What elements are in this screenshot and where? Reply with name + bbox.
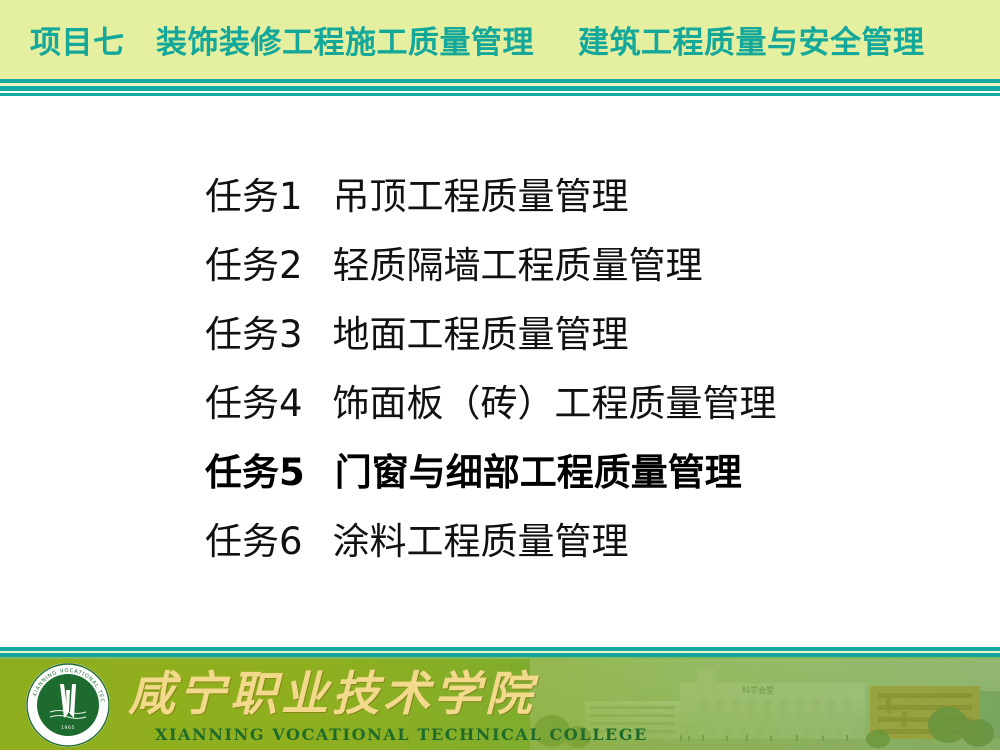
task-name: 涂料工程质量管理 (333, 523, 629, 560)
task-label: 任务6 (205, 523, 303, 560)
task-list-item-current[interactable]: 任务5 门窗与细部工程质量管理 (205, 438, 965, 507)
header-course-title: 建筑工程质量与安全管理 (578, 17, 925, 62)
task-name: 饰面板（砖）工程质量管理 (333, 385, 777, 422)
task-name: 吊顶工程质量管理 (333, 178, 629, 215)
svg-text:科学会堂: 科学会堂 (742, 685, 774, 695)
task-label: 任务2 (205, 247, 303, 284)
college-name-english: XIANNING VOCATIONAL TECHNICAL COLLEGE (155, 726, 575, 744)
task-list-item[interactable]: 任务2 轻质隔墙工程质量管理 (205, 231, 965, 300)
task-label: 任务4 (205, 385, 303, 422)
slide-header-title: 项目七 装饰装修工程施工质量管理 建筑工程质量与安全管理 (0, 0, 1000, 79)
svg-text:1965: 1965 (61, 725, 75, 731)
college-name-chinese: 咸宁职业技术学院 (128, 664, 548, 726)
header-divider-line-3 (0, 93, 1000, 96)
task-list-item[interactable]: 任务3 地面工程质量管理 (205, 300, 965, 369)
task-list-item[interactable]: 任务1 吊顶工程质量管理 (205, 162, 965, 231)
task-list: 任务1 吊顶工程质量管理 任务2 轻质隔墙工程质量管理 任务3 地面工程质量管理… (205, 162, 965, 576)
task-label: 任务5 (205, 454, 305, 491)
slide-content-area: 任务1 吊顶工程质量管理 任务2 轻质隔墙工程质量管理 任务3 地面工程质量管理… (0, 100, 1000, 645)
task-label: 任务1 (205, 178, 303, 215)
task-name: 轻质隔墙工程质量管理 (333, 247, 703, 284)
header-project-title: 项目七 装饰装修工程施工质量管理 (30, 17, 534, 62)
task-list-item[interactable]: 任务4 饰面板（砖）工程质量管理 (205, 369, 965, 438)
task-name: 门窗与细部工程质量管理 (335, 454, 742, 491)
college-seal-logo: XIANNING VOCATIONAL TECHNICAL COLLEGE 咸宁… (25, 662, 111, 748)
task-list-item[interactable]: 任务6 涂料工程质量管理 (205, 507, 965, 576)
task-label: 任务3 (205, 316, 303, 353)
task-name: 地面工程质量管理 (333, 316, 629, 353)
